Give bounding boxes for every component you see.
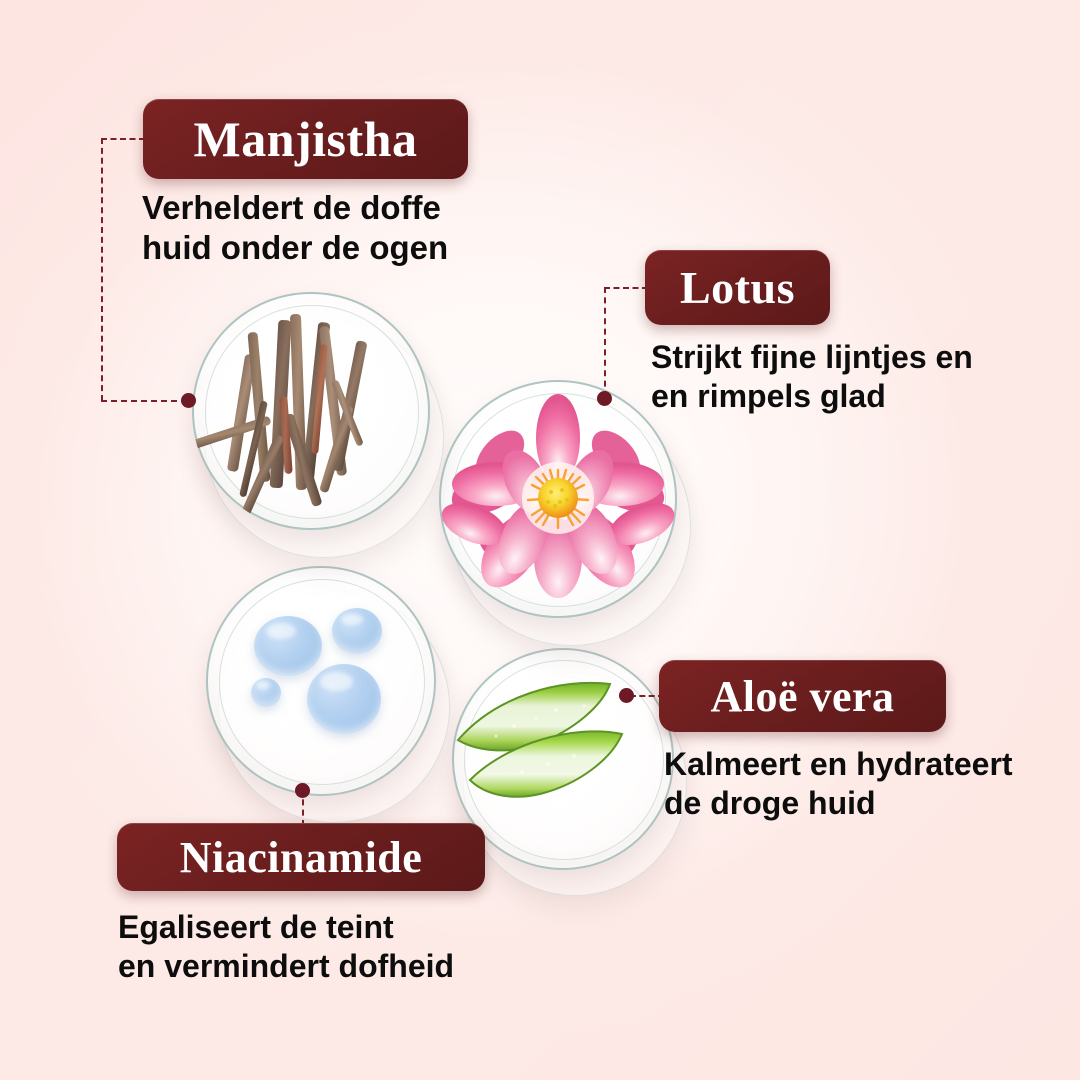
- badge-label-aloe-vera: Aloë vera: [710, 671, 894, 722]
- petri-dish-manjistha: [192, 292, 430, 530]
- connector-lotus-top: [604, 287, 648, 289]
- badge-lotus[interactable]: Lotus: [645, 250, 830, 325]
- connector-dot-lotus: [597, 391, 612, 406]
- petri-dish-aloe-vera: [452, 648, 674, 870]
- gel-droplet: [307, 664, 381, 734]
- badge-label-lotus: Lotus: [680, 261, 795, 314]
- badge-aloe-vera[interactable]: Aloë vera: [659, 660, 946, 732]
- connector-manjistha-top: [101, 138, 145, 140]
- connector-dot-manjistha: [181, 393, 196, 408]
- badge-niacinamide[interactable]: Niacinamide: [117, 823, 485, 891]
- lotus-flower-icon: [439, 380, 677, 618]
- connector-lotus-vertical: [604, 287, 606, 397]
- petri-dish-lotus: [439, 380, 677, 618]
- badge-manjistha[interactable]: Manjistha: [143, 99, 468, 179]
- petri-dish-niacinamide: [206, 566, 436, 796]
- lotus-flower: [439, 380, 677, 618]
- gel-droplet: [254, 616, 322, 676]
- gel-droplet: [251, 678, 281, 707]
- description-aloe-vera: Kalmeert en hydrateert de droge huid: [664, 745, 1080, 822]
- connector-dot-niacinamide: [295, 783, 310, 798]
- manjistha-roots: [192, 292, 430, 530]
- description-manjistha: Verheldert de doffe huid onder de ogen: [142, 188, 572, 268]
- aloe-vera-slices: [452, 648, 674, 870]
- badge-label-niacinamide: Niacinamide: [180, 832, 423, 883]
- badge-label-manjistha: Manjistha: [194, 110, 418, 168]
- gel-droplet: [332, 608, 382, 654]
- connector-manjistha-vertical: [101, 138, 103, 401]
- description-niacinamide: Egaliseert de teint en vermindert dofhei…: [118, 908, 578, 985]
- description-lotus: Strijkt fijne lijntjes en en rimpels gla…: [651, 338, 1071, 415]
- niacinamide-gel-droplets: [206, 566, 436, 796]
- connector-dot-aloe-vera: [619, 688, 634, 703]
- ingredient-infographic: Manjistha Verheldert de doffe huid onder…: [0, 0, 1080, 1080]
- connector-manjistha-bottom: [101, 400, 187, 402]
- aloe-slice-icon: [452, 648, 674, 870]
